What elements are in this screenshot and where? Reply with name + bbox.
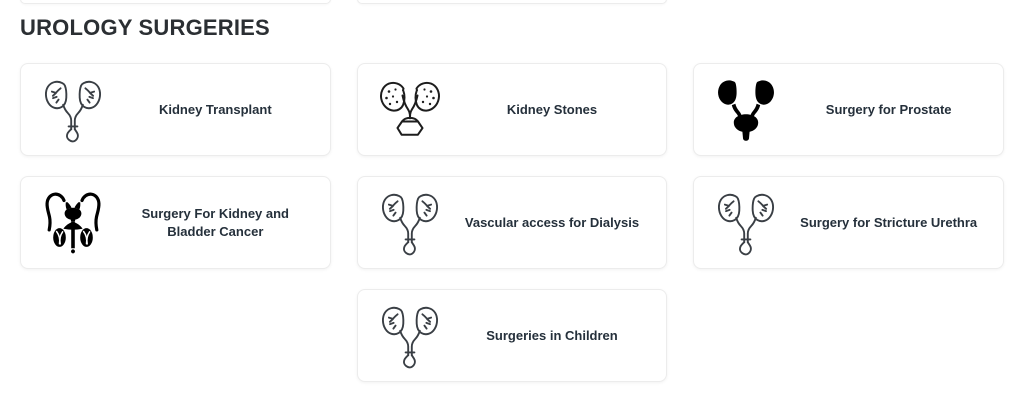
surgery-card-grid: Kidney Transplant xyxy=(20,63,1004,382)
surgery-card-label: Surgeries in Children xyxy=(448,327,657,345)
surgery-card-label: Kidney Stones xyxy=(448,101,657,119)
surgery-card-vascular-access-for-dialysis[interactable]: Vascular access for Dialysis xyxy=(357,176,668,269)
surgery-card-label: Surgery for Prostate xyxy=(784,101,993,119)
prostate-testes-solid-icon xyxy=(35,185,111,261)
kidney-urinary-tract-outline-icon xyxy=(372,185,448,261)
kidney-urinary-tract-outline-icon xyxy=(372,298,448,374)
surgery-card-kidney-and-bladder-cancer[interactable]: Surgery For Kidney and Bladder Cancer xyxy=(20,176,331,269)
kidney-stones-outline-icon xyxy=(372,72,448,148)
surgery-card-stricture-urethra[interactable]: Surgery for Stricture Urethra xyxy=(693,176,1004,269)
kidney-urinary-tract-outline-icon xyxy=(35,72,111,148)
kidney-bladder-prostate-solid-icon xyxy=(708,72,784,148)
surgery-card-kidney-transplant[interactable]: Kidney Transplant xyxy=(20,63,331,156)
urology-surgeries-page: UROLOGY SURGERIES Kidney Transplant xyxy=(0,0,1024,414)
surgery-card-label: Kidney Transplant xyxy=(111,101,320,119)
surgery-card-surgeries-in-children[interactable]: Surgeries in Children xyxy=(357,289,668,382)
kidney-urinary-tract-outline-icon xyxy=(708,185,784,261)
surgery-card-label: Surgery for Stricture Urethra xyxy=(784,214,993,232)
page-title: UROLOGY SURGERIES xyxy=(20,0,1004,41)
surgery-card-kidney-stones[interactable]: Kidney Stones xyxy=(357,63,668,156)
surgery-card-label: Vascular access for Dialysis xyxy=(448,214,657,232)
surgery-card-surgery-for-prostate[interactable]: Surgery for Prostate xyxy=(693,63,1004,156)
surgery-card-label: Surgery For Kidney and Bladder Cancer xyxy=(111,205,320,240)
